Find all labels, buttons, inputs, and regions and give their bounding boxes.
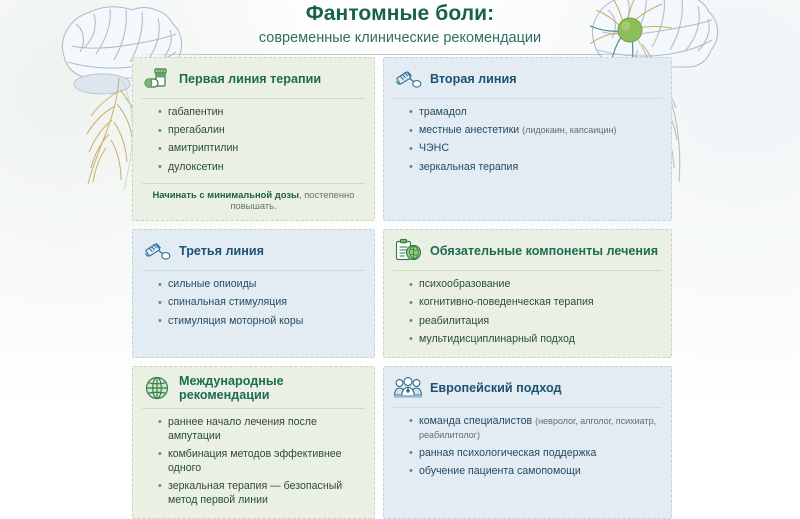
card-header: Вторая линия [393, 65, 662, 98]
list-item-text: ЧЭНС [419, 142, 449, 154]
card-third-line: Третья линиясильные опиоидыспинальная ст… [132, 229, 375, 358]
page-title: Фантомные боли: [0, 2, 800, 27]
list-item-text: зеркальная терапия — безопасный метод пе… [168, 480, 342, 506]
card-european-approach: Европейский подходкоманда специалистов (… [383, 366, 672, 519]
card-header: Европейский подход [393, 374, 662, 407]
list-item-text: когнитивно-поведенческая терапия [419, 296, 594, 308]
card-mandatory-treatment-components: Обязательные компоненты леченияпсихообра… [383, 229, 672, 358]
list-item: ЧЭНС [419, 140, 662, 158]
card-header: Третья линия [142, 237, 365, 270]
list-item: спинальная стимуляция [168, 294, 365, 312]
list-item-text: амитриптилин [168, 142, 238, 154]
list-item: габапентин [168, 104, 365, 122]
list-item: дулоксетин [168, 158, 365, 176]
list-item-text: комбинация методов эффективнее одного [168, 448, 342, 474]
list-item-text: сильные опиоиды [168, 278, 256, 290]
card-item-list: сильные опиоидыспинальная стимуляциястим… [142, 276, 365, 330]
card-footnote: Начинать с минимальной дозы, постепенно … [142, 183, 365, 213]
card-header: Первая линия терапии [142, 65, 365, 98]
card-title: Вторая линия [430, 72, 517, 86]
card-title: Первая линия терапии [179, 72, 321, 86]
card-second-line: Вторая линиятрамадолместные анестетики (… [383, 57, 672, 221]
pill-bottle-icon [142, 65, 172, 93]
list-item: психообразование [419, 276, 662, 294]
list-item-text: местные анестетики [419, 124, 522, 136]
list-item: ранная психологическая поддержка [419, 445, 662, 463]
list-item-text: психообразование [419, 278, 510, 290]
list-item: прегабалин [168, 122, 365, 140]
recommendation-cards-grid: Первая линия терапиигабапентинпрегабалин… [132, 57, 672, 519]
list-item: обучение пациента самопомощи [419, 463, 662, 481]
list-item: зеркальная терапия [419, 158, 662, 176]
card-first-line-therapy: Первая линия терапиигабапентинпрегабалин… [132, 57, 375, 221]
list-item: реабилитация [419, 312, 662, 330]
list-item: зеркальная терапия — безопасный метод пе… [168, 478, 365, 510]
card-title: Обязательные компоненты лечения [430, 244, 658, 258]
card-item-list: психообразованиекогнитивно-поведенческая… [393, 276, 662, 349]
globe-icon [142, 374, 172, 402]
card-header-divider [142, 98, 365, 99]
list-item-text: команда специалистов [419, 415, 535, 427]
list-item: раннее начало лечения после ампутации [168, 414, 365, 446]
list-item: комбинация методов эффективнее одного [168, 446, 365, 478]
list-item-text: мультидисциплинарный подход [419, 333, 575, 345]
card-item-list: команда специалистов (невролог, алголог,… [393, 413, 662, 481]
list-item-text: стимуляция моторной коры [168, 315, 303, 327]
page-header: Фантомные боли: современные клинические … [0, 2, 800, 55]
list-item-text: спинальная стимуляция [168, 296, 287, 308]
card-item-list: трамадолместные анестетики (лидокаин, ка… [393, 104, 662, 177]
list-item-text: зеркальная терапия [419, 161, 518, 173]
card-international-recommendations: Международные рекомендациираннее начало … [132, 366, 375, 519]
list-item-text: прегабалин [168, 124, 225, 136]
card-item-list: габапентинпрегабалинамитриптилиндулоксет… [142, 104, 365, 177]
list-item-text: ранная психологическая поддержка [419, 447, 596, 459]
list-item-text: раннее начало лечения после ампутации [168, 416, 317, 442]
list-item: амитриптилин [168, 140, 365, 158]
card-title: Международные рекомендации [179, 374, 365, 403]
list-item-text: дулоксетин [168, 161, 224, 173]
card-header-divider [142, 408, 365, 409]
page-subtitle: современные клинические рекомендации [0, 30, 800, 47]
list-item: сильные опиоиды [168, 276, 365, 294]
card-item-list: раннее начало лечения после ампутацииком… [142, 414, 365, 510]
list-item: стимуляция моторной коры [168, 312, 365, 330]
list-item-text: трамадол [419, 106, 467, 118]
list-item-text: габапентин [168, 106, 223, 118]
list-item: мультидисциплинарный подход [419, 331, 662, 349]
syringe-icon [393, 65, 423, 93]
list-item: команда специалистов (невролог, алголог,… [419, 413, 662, 445]
syringe-icon [142, 237, 172, 265]
card-header-divider [393, 270, 662, 271]
card-header-divider [393, 98, 662, 99]
team-of-people-icon [393, 374, 423, 402]
list-item-detail: (лидокаин, капсаицин) [522, 125, 616, 135]
card-header-divider [142, 270, 365, 271]
clipboard-brain-icon [393, 237, 423, 265]
footnote-emphasis: Начинать с минимальной дозы [153, 189, 299, 200]
card-title: Европейский подход [430, 381, 562, 395]
infographic-page: Фантомные боли: современные клинические … [0, 0, 800, 400]
list-item: когнитивно-поведенческая терапия [419, 294, 662, 312]
list-item: местные анестетики (лидокаин, капсаицин) [419, 122, 662, 140]
title-divider [137, 54, 663, 55]
list-item-text: обучение пациента самопомощи [419, 465, 581, 477]
list-item-text: реабилитация [419, 315, 489, 327]
list-item: трамадол [419, 104, 662, 122]
card-title: Третья линия [179, 244, 264, 258]
card-header: Обязательные компоненты лечения [393, 237, 662, 270]
card-header-divider [393, 407, 662, 408]
card-header: Международные рекомендации [142, 374, 365, 408]
